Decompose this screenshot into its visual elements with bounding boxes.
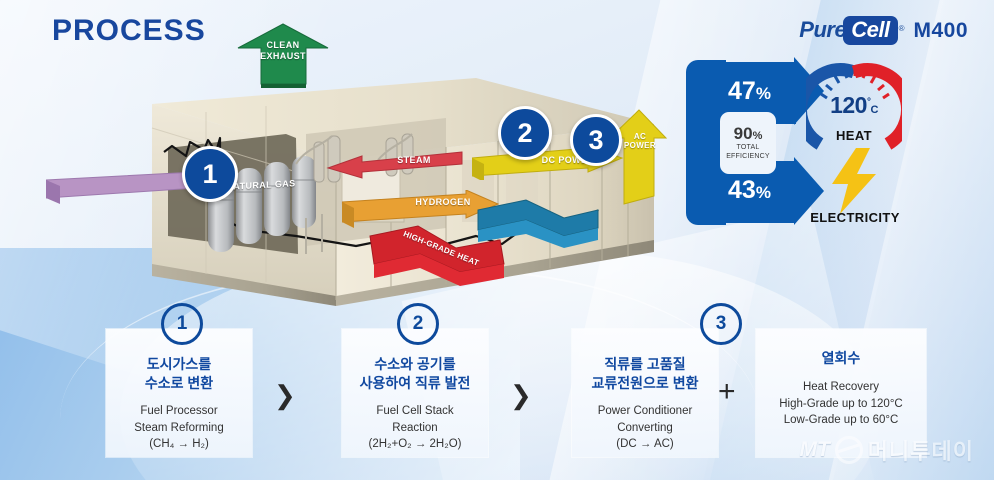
heat-percent-value: 47 xyxy=(728,77,756,105)
logo-model-text: M400 xyxy=(913,19,968,43)
heat-gauge-number: 120 xyxy=(830,92,867,118)
card-3-en-line2: Converting xyxy=(572,420,718,437)
card-separator-plus: + xyxy=(718,375,736,409)
clean-exhaust-line2: EXHAUST xyxy=(260,51,306,62)
logo-cell-text: Cell xyxy=(851,17,889,42)
card-2-en-line3: (2H₂+O₂ → 2H₂O) xyxy=(342,436,488,453)
electricity-percent-value: 43 xyxy=(728,176,756,204)
card-2-kr-line1: 수소와 공기를 xyxy=(342,355,488,374)
machine-step-3: 3 xyxy=(570,114,622,166)
process-card-2-korean: 수소와 공기를 사용하여 직류 발전 xyxy=(342,355,488,393)
infographic-canvas: PROCESS PureCell® M400 xyxy=(0,0,994,480)
watermark-mt-text: MT xyxy=(799,438,829,462)
total-efficiency-number: 90 xyxy=(734,124,753,143)
process-card-3-number: 3 xyxy=(700,303,742,345)
process-card-3[interactable]: 직류를 고품질 교류전원으로 변환 Power Conditioner Conv… xyxy=(572,329,718,457)
heat-gauge: 120°C xyxy=(806,62,902,158)
heat-gauge-value: 120°C xyxy=(806,92,902,119)
card-4-en-line3: Low-Grade up to 60°C xyxy=(756,412,926,429)
fuel-cell-unit-illustration: NATURAL GAS STEAM HYDROGEN HIGH-GRADE HE… xyxy=(146,68,658,308)
ac-power-line1: AC xyxy=(634,132,646,141)
heat-percent-symbol: % xyxy=(756,84,771,103)
card-1-en-line3: (CH₄ → H₂) xyxy=(106,436,252,453)
card-2-kr-line2: 사용하여 직류 발전 xyxy=(342,374,488,393)
clean-exhaust-label: CLEAN EXHAUST xyxy=(250,34,316,68)
total-efficiency-symbol: % xyxy=(753,130,763,142)
process-card-2-number: 2 xyxy=(397,303,439,345)
total-efficiency-label-line1: TOTAL xyxy=(726,144,770,152)
card-1-kr-line2: 수소로 변환 xyxy=(106,374,252,393)
process-card-3-korean: 직류를 고품질 교류전원으로 변환 xyxy=(572,355,718,393)
ac-power-label: AC POWER xyxy=(618,126,662,156)
electricity-output-label: ELECTRICITY xyxy=(790,210,920,225)
page-title: PROCESS xyxy=(52,14,206,48)
process-card-3-english: Power Conditioner Converting (DC → AC) xyxy=(572,403,718,453)
watermark-circle-icon xyxy=(835,436,863,464)
card-2-en-line2: Reaction xyxy=(342,420,488,437)
logo-pure-text: Pure xyxy=(799,17,846,42)
total-efficiency-label-line2: EFFICIENCY xyxy=(726,153,770,161)
efficiency-split-arrows: 47% 43% 90% TOTAL EFFICIENCY xyxy=(686,60,816,225)
total-efficiency-value: 90% xyxy=(734,125,763,142)
card-2-en-line1: Fuel Cell Stack xyxy=(342,403,488,420)
ac-power-arrow xyxy=(608,108,670,208)
machine-step-2: 2 xyxy=(498,106,552,160)
clean-exhaust-line1: CLEAN xyxy=(267,40,300,51)
registered-mark-icon: ® xyxy=(899,24,905,33)
logo-wordmark: PureCell® xyxy=(799,16,904,45)
card-1-en-line2: Steam Reforming xyxy=(106,420,252,437)
card-4-en-line1: Heat Recovery xyxy=(756,379,926,396)
card-3-en-line1: Power Conditioner xyxy=(572,403,718,420)
card-4-en-line2: High-Grade up to 120°C xyxy=(756,396,926,413)
total-efficiency-badge: 90% TOTAL EFFICIENCY xyxy=(720,112,776,174)
machine-step-1: 1 xyxy=(182,146,238,202)
watermark-korean-text: 머니투데이 xyxy=(868,434,974,466)
process-card-2[interactable]: 수소와 공기를 사용하여 직류 발전 Fuel Cell Stack React… xyxy=(342,329,488,457)
logo-cell-box: Cell xyxy=(843,16,897,45)
process-card-1-korean: 도시가스를 수소로 변환 xyxy=(106,355,252,393)
process-card-4-korean: 열회수 xyxy=(756,349,926,368)
electricity-percent-symbol: % xyxy=(756,183,771,202)
process-card-1-english: Fuel Processor Steam Reforming (CH₄ → H₂… xyxy=(106,403,252,453)
card-1-en-line1: Fuel Processor xyxy=(106,403,252,420)
process-card-1-number: 1 xyxy=(161,303,203,345)
process-card-1[interactable]: 도시가스를 수소로 변환 Fuel Processor Steam Reform… xyxy=(106,329,252,457)
steam-label: STEAM xyxy=(374,152,454,168)
heat-gauge-unit: C xyxy=(870,104,877,116)
card-3-kr-line1: 직류를 고품질 xyxy=(572,355,718,374)
card-separator-2: ❯ xyxy=(510,380,532,411)
card-3-en-line3: (DC → AC) xyxy=(572,436,718,453)
card-3-kr-line2: 교류전원으로 변환 xyxy=(572,374,718,393)
purecell-logo: PureCell® M400 xyxy=(799,16,968,45)
power-module xyxy=(472,194,602,254)
card-4-kr-line1: 열회수 xyxy=(756,349,926,368)
total-efficiency-label: TOTAL EFFICIENCY xyxy=(726,144,770,160)
process-card-4-english: Heat Recovery High-Grade up to 120°C Low… xyxy=(756,379,926,429)
electricity-percent: 43% xyxy=(728,176,771,205)
card-1-kr-line1: 도시가스를 xyxy=(106,355,252,374)
ac-power-line2: POWER xyxy=(624,141,656,150)
heat-percent: 47% xyxy=(728,77,771,106)
card-separator-1: ❯ xyxy=(274,380,296,411)
watermark: MT 머니투데이 xyxy=(799,434,974,466)
heat-output-label: HEAT xyxy=(806,128,902,143)
lightning-bolt-icon xyxy=(826,148,884,214)
process-card-2-english: Fuel Cell Stack Reaction (2H₂+O₂ → 2H₂O) xyxy=(342,403,488,453)
